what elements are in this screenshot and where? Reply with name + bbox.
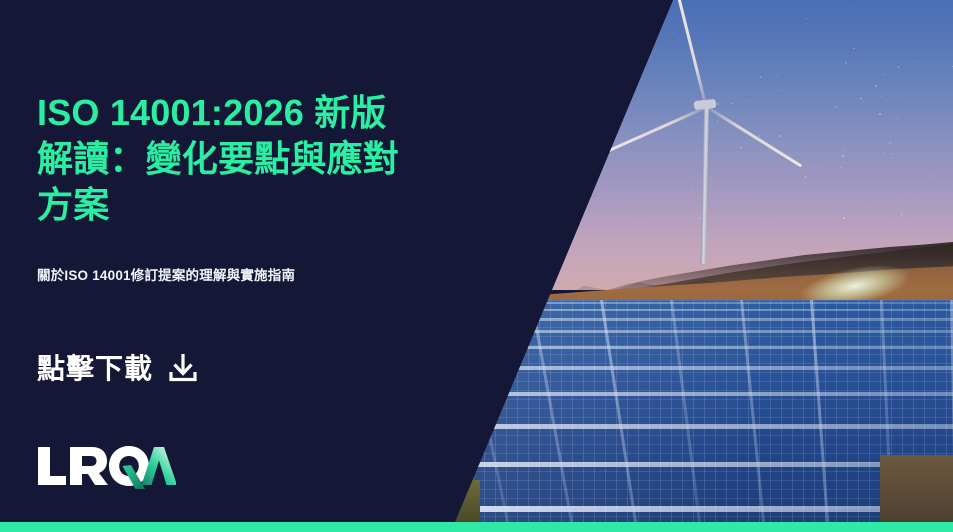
page-title: ISO 14001:2026 新版 解讀：變化要點與應對 方案 <box>37 90 507 228</box>
title-line-2: 解讀：變化要點與應對 <box>37 136 507 182</box>
download-cta-button[interactable]: 點擊下載 <box>37 347 200 387</box>
turbine-blade <box>706 106 802 168</box>
title-line-1: ISO 14001:2026 新版 <box>37 90 507 136</box>
lrqa-logo[interactable] <box>36 443 176 489</box>
download-icon <box>166 350 200 384</box>
turbine-blade <box>678 0 708 107</box>
title-line-3: 方案 <box>37 182 507 228</box>
page-subtitle: 關於ISO 14001修訂提案的理解與實施指南 <box>37 264 507 284</box>
turbine-nacelle <box>694 99 717 110</box>
bottom-accent-bar <box>0 522 953 532</box>
turbine-tower <box>701 104 709 264</box>
ground-edge-right <box>880 455 953 522</box>
download-cta-label: 點擊下載 <box>37 347 153 387</box>
banner-content: ISO 14001:2026 新版 解讀：變化要點與應對 方案 關於ISO 14… <box>0 0 560 522</box>
marketing-banner: ISO 14001:2026 新版 解讀：變化要點與應對 方案 關於ISO 14… <box>0 0 953 532</box>
